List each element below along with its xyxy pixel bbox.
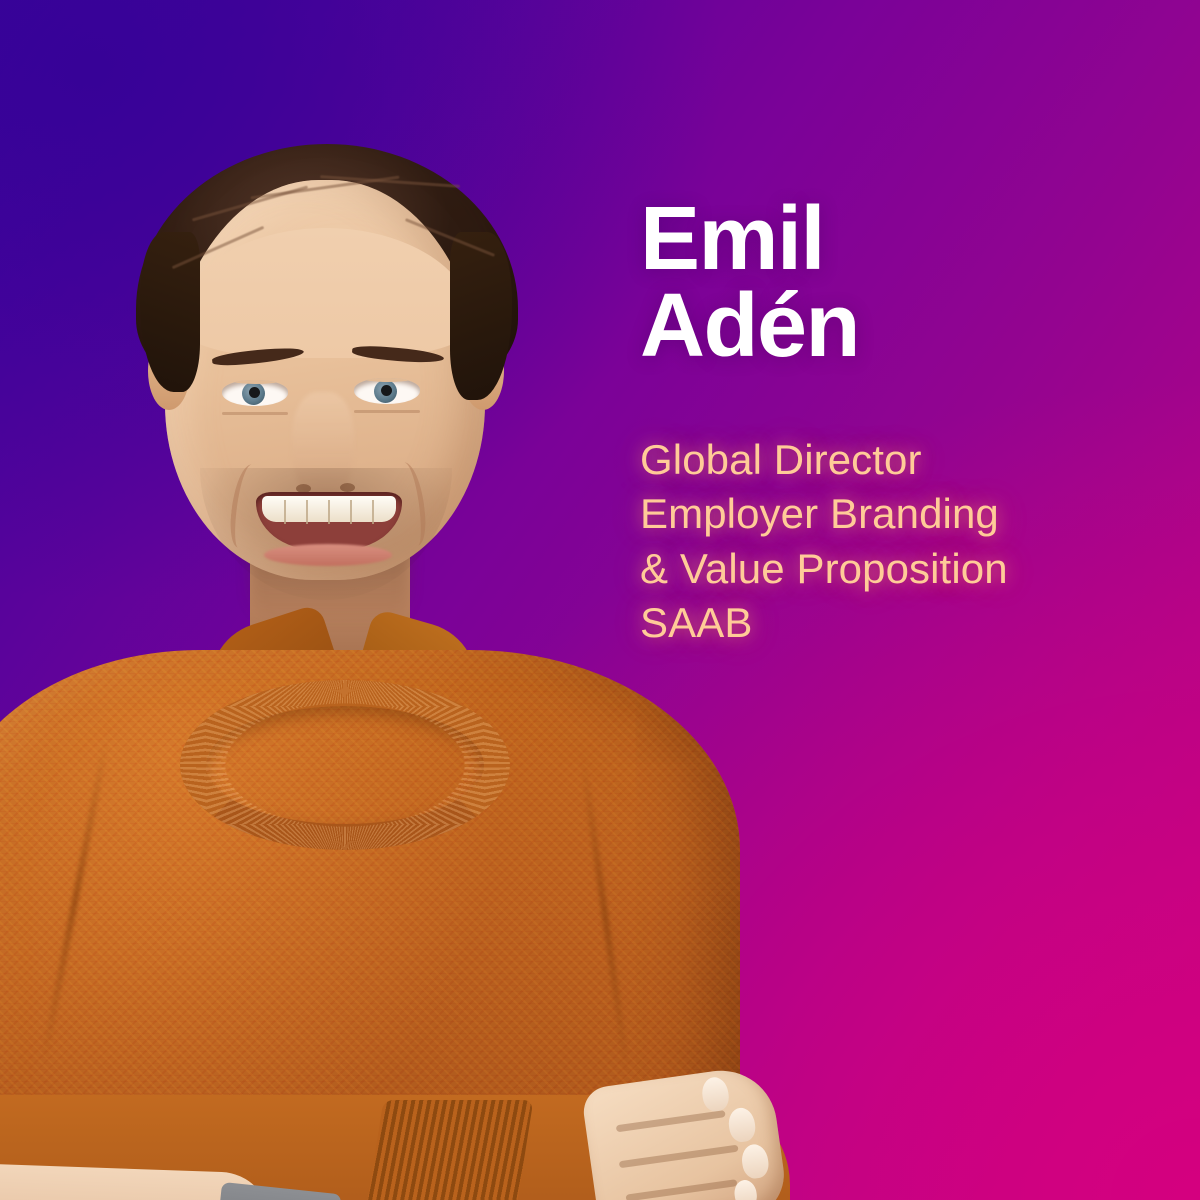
undereye-crease-left bbox=[222, 412, 288, 415]
speaker-name: EmilAdén bbox=[640, 196, 1160, 371]
finger-crease bbox=[626, 1179, 738, 1200]
fingernail bbox=[727, 1106, 757, 1143]
eyelid bbox=[222, 380, 288, 384]
speaker-profile-card: EmilAdén Global Director Employer Brandi… bbox=[0, 0, 1200, 1200]
role-line-4-organization: SAAB bbox=[640, 596, 1160, 651]
eye-left bbox=[222, 380, 288, 406]
pupil bbox=[249, 387, 260, 398]
teeth bbox=[262, 496, 396, 522]
pupil bbox=[381, 385, 392, 396]
role-line-3: & Value Proposition bbox=[640, 542, 1160, 597]
sweater-neck-ribbing bbox=[180, 680, 510, 850]
speaker-last-name: Adén bbox=[640, 276, 859, 376]
lower-lip bbox=[264, 544, 392, 566]
undereye-crease-right bbox=[354, 410, 420, 413]
sweater-cuff bbox=[357, 1100, 534, 1200]
finger-crease bbox=[619, 1145, 739, 1169]
eyelid bbox=[354, 378, 420, 382]
fingernail bbox=[700, 1076, 730, 1113]
speaker-text-block: EmilAdén Global Director Employer Brandi… bbox=[640, 196, 1160, 651]
fingernail bbox=[740, 1143, 770, 1180]
role-line-1: Global Director bbox=[640, 433, 1160, 488]
finger-crease bbox=[616, 1110, 726, 1132]
speaker-first-name: Emil bbox=[640, 189, 824, 289]
role-line-2: Employer Branding bbox=[640, 487, 1160, 542]
eye-right bbox=[354, 378, 420, 404]
speaker-role: Global Director Employer Branding & Valu… bbox=[640, 433, 1160, 651]
